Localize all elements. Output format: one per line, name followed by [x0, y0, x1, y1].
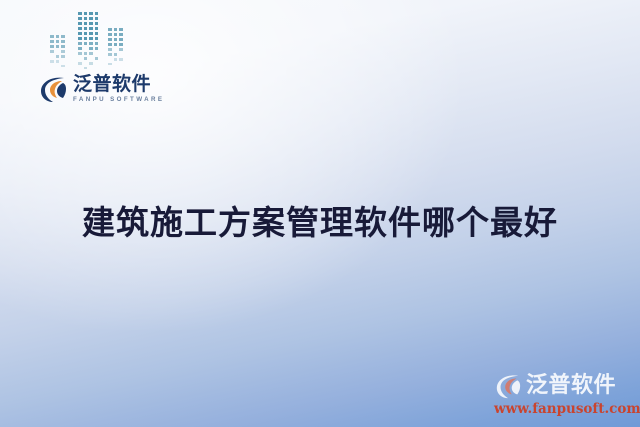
watermark-url: www.fanpusoft.com: [494, 402, 634, 417]
watermark-brand-row: 泛普软件: [494, 371, 634, 401]
brand-logo: 泛普软件 FANPU SOFTWARE: [38, 72, 164, 106]
page-title: 建筑施工方案管理软件哪个最好: [0, 196, 640, 244]
fanpu-swirl-logo-icon: [38, 74, 68, 104]
brand-name-en: FANPU SOFTWARE: [73, 97, 164, 103]
slide-canvas: 泛普软件 FANPU SOFTWARE 建筑施工方案管理软件哪个最好 泛普软件 …: [0, 0, 640, 427]
brand-name-cn: 泛普软件: [73, 75, 164, 95]
brand-text-block: 泛普软件 FANPU SOFTWARE: [73, 75, 164, 103]
pixel-skyline-graphic: [44, 10, 148, 76]
fanpu-swirl-watermark-icon: [494, 372, 522, 400]
watermark-name-cn: 泛普软件: [526, 375, 616, 397]
watermark: 泛普软件 www.fanpusoft.com: [494, 371, 634, 419]
